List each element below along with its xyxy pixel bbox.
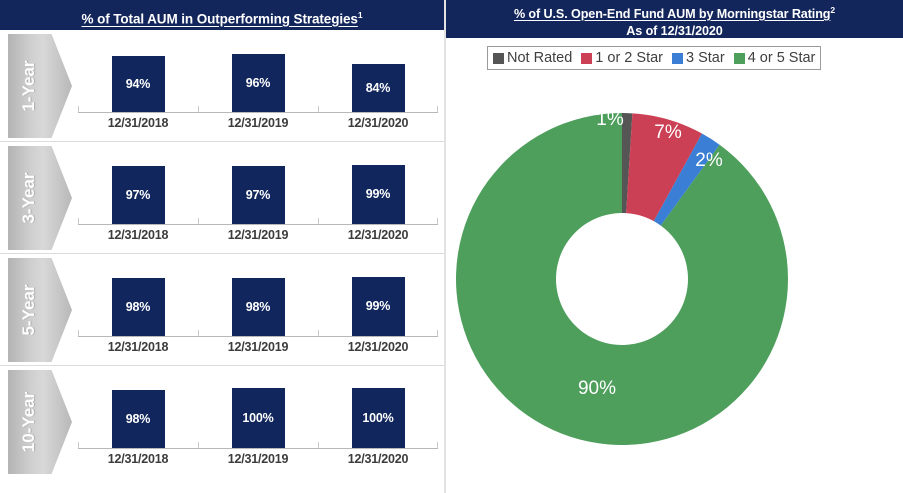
donut-slice-4-or-5-star[interactable] bbox=[456, 113, 788, 445]
donut-chart-svg: 1% 7% 2% 90% bbox=[446, 76, 903, 486]
left-panel-header: % of Total AUM in Outperforming Strategi… bbox=[0, 0, 444, 30]
bar[interactable]: 84% bbox=[352, 64, 405, 112]
legend-item-4-or-5-star[interactable]: 4 or 5 Star bbox=[734, 50, 816, 66]
donut-slices bbox=[456, 113, 788, 445]
bar[interactable]: 94% bbox=[112, 56, 165, 112]
right-panel-title-footnote: 2 bbox=[830, 5, 835, 15]
bar[interactable]: 98% bbox=[112, 390, 165, 449]
x-axis-line bbox=[78, 336, 438, 337]
plot-area: 98% 100% 100% bbox=[78, 370, 438, 448]
bar-value-label: 98% bbox=[246, 300, 270, 314]
donut-slice-label-1-or-2-star: 7% bbox=[654, 122, 682, 143]
slide-root: % of Total AUM in Outperforming Strategi… bbox=[0, 0, 903, 493]
bar-value-label: 99% bbox=[366, 187, 390, 201]
legend-swatch-icon bbox=[581, 53, 592, 64]
x-axis-line bbox=[78, 448, 438, 449]
bar-value-label: 100% bbox=[362, 411, 393, 425]
bar[interactable]: 100% bbox=[352, 388, 405, 448]
legend-item-3-star[interactable]: 3 Star bbox=[672, 50, 725, 66]
bar-slot: 99% bbox=[318, 146, 438, 224]
bar[interactable]: 99% bbox=[352, 277, 405, 336]
donut-slice-label-not-rated: 1% bbox=[596, 109, 624, 130]
left-panel-title: % of Total AUM in Outperforming Strategi… bbox=[82, 12, 358, 27]
category-label: 12/31/2018 bbox=[78, 116, 198, 130]
bar-rows-container: 1-Year 94% 96% bbox=[0, 30, 444, 478]
bar-slot: 96% bbox=[198, 34, 318, 112]
bar-value-label: 96% bbox=[246, 76, 270, 90]
category-label: 12/31/2020 bbox=[318, 340, 438, 354]
table-row: 3-Year 97% 97% bbox=[0, 142, 444, 254]
bar-value-label: 98% bbox=[126, 412, 150, 426]
bar[interactable]: 99% bbox=[352, 165, 405, 224]
category-label: 12/31/2020 bbox=[318, 116, 438, 130]
row-arrow-label-3-year: 3-Year bbox=[8, 146, 72, 250]
category-label: 12/31/2019 bbox=[198, 228, 318, 242]
category-label: 12/31/2018 bbox=[78, 228, 198, 242]
bar[interactable]: 98% bbox=[112, 278, 165, 337]
category-labels: 12/31/2018 12/31/2019 12/31/2020 bbox=[78, 228, 438, 242]
legend-item-1-or-2-star[interactable]: 1 or 2 Star bbox=[581, 50, 663, 66]
legend-swatch-icon bbox=[734, 53, 745, 64]
row-arrow-label-text: 3-Year bbox=[19, 155, 39, 241]
bar-slot: 94% bbox=[78, 34, 198, 112]
bar-slot: 98% bbox=[78, 370, 198, 448]
bar-value-label: 97% bbox=[246, 188, 270, 202]
row-chart-3-year: 97% 97% 99% bbox=[78, 142, 438, 254]
bar[interactable]: 100% bbox=[232, 388, 285, 448]
legend-item-not-rated[interactable]: Not Rated bbox=[493, 50, 572, 66]
donut-legend: Not Rated 1 or 2 Star 3 Star 4 or 5 Star bbox=[487, 46, 821, 70]
category-labels: 12/31/2018 12/31/2019 12/31/2020 bbox=[78, 452, 438, 466]
plot-area: 98% 98% 99% bbox=[78, 258, 438, 336]
bar-value-label: 99% bbox=[366, 299, 390, 313]
legend-swatch-icon bbox=[672, 53, 683, 64]
left-panel: % of Total AUM in Outperforming Strategi… bbox=[0, 0, 444, 493]
bar-value-label: 100% bbox=[242, 411, 273, 425]
row-arrow-label-5-year: 5-Year bbox=[8, 258, 72, 362]
category-label: 12/31/2018 bbox=[78, 452, 198, 466]
row-arrow-label-1-year: 1-Year bbox=[8, 34, 72, 138]
category-label: 12/31/2019 bbox=[198, 452, 318, 466]
plot-area: 94% 96% 84% bbox=[78, 34, 438, 112]
bar[interactable]: 96% bbox=[232, 54, 285, 112]
category-label: 12/31/2019 bbox=[198, 340, 318, 354]
bar-slot: 100% bbox=[318, 370, 438, 448]
bar[interactable]: 97% bbox=[232, 166, 285, 224]
category-labels: 12/31/2018 12/31/2019 12/31/2020 bbox=[78, 340, 438, 354]
category-labels: 12/31/2018 12/31/2019 12/31/2020 bbox=[78, 116, 438, 130]
row-arrow-label-text: 1-Year bbox=[19, 43, 39, 129]
right-panel-title: % of U.S. Open-End Fund AUM by Morningst… bbox=[514, 7, 830, 21]
bar-value-label: 97% bbox=[126, 188, 150, 202]
legend-item-label: 1 or 2 Star bbox=[595, 50, 663, 66]
right-panel: % of U.S. Open-End Fund AUM by Morningst… bbox=[446, 0, 903, 493]
bar-slot: 97% bbox=[198, 146, 318, 224]
bar-slot: 99% bbox=[318, 258, 438, 336]
row-arrow-label-text: 5-Year bbox=[19, 267, 39, 353]
bar-value-label: 98% bbox=[126, 300, 150, 314]
x-axis-line bbox=[78, 224, 438, 225]
legend-item-label: 4 or 5 Star bbox=[748, 50, 816, 66]
category-label: 12/31/2019 bbox=[198, 116, 318, 130]
right-panel-subtitle: As of 12/31/2020 bbox=[446, 23, 903, 40]
legend-item-label: 3 Star bbox=[686, 50, 725, 66]
category-label: 12/31/2020 bbox=[318, 452, 438, 466]
table-row: 5-Year 98% 98% bbox=[0, 254, 444, 366]
right-panel-header: % of U.S. Open-End Fund AUM by Morningst… bbox=[446, 0, 903, 38]
legend-swatch-icon bbox=[493, 53, 504, 64]
left-panel-title-footnote: 1 bbox=[358, 10, 363, 20]
bar-slot: 100% bbox=[198, 370, 318, 448]
row-chart-5-year: 98% 98% 99% bbox=[78, 254, 438, 366]
bar-value-label: 84% bbox=[366, 81, 390, 95]
row-chart-10-year: 98% 100% 100% bbox=[78, 366, 438, 478]
donut-slice-label-4-or-5-star: 90% bbox=[578, 378, 616, 399]
row-chart-1-year: 94% 96% 84% bbox=[78, 30, 438, 142]
category-label: 12/31/2020 bbox=[318, 228, 438, 242]
table-row: 1-Year 94% 96% bbox=[0, 30, 444, 142]
category-label: 12/31/2018 bbox=[78, 340, 198, 354]
bar-slot: 98% bbox=[78, 258, 198, 336]
plot-area: 97% 97% 99% bbox=[78, 146, 438, 224]
legend-item-label: Not Rated bbox=[507, 50, 572, 66]
bar-value-label: 94% bbox=[126, 77, 150, 91]
row-arrow-label-10-year: 10-Year bbox=[8, 370, 72, 474]
bar-slot: 84% bbox=[318, 34, 438, 112]
bar-slot: 98% bbox=[198, 258, 318, 336]
row-arrow-label-text: 10-Year bbox=[19, 379, 39, 465]
bar-slot: 97% bbox=[78, 146, 198, 224]
donut-chart: 1% 7% 2% 90% bbox=[446, 76, 903, 486]
table-row: 10-Year 98% 100% bbox=[0, 366, 444, 478]
donut-slice-label-3-star: 2% bbox=[695, 150, 723, 171]
bar[interactable]: 97% bbox=[112, 166, 165, 224]
x-axis-line bbox=[78, 112, 438, 113]
bar[interactable]: 98% bbox=[232, 278, 285, 337]
